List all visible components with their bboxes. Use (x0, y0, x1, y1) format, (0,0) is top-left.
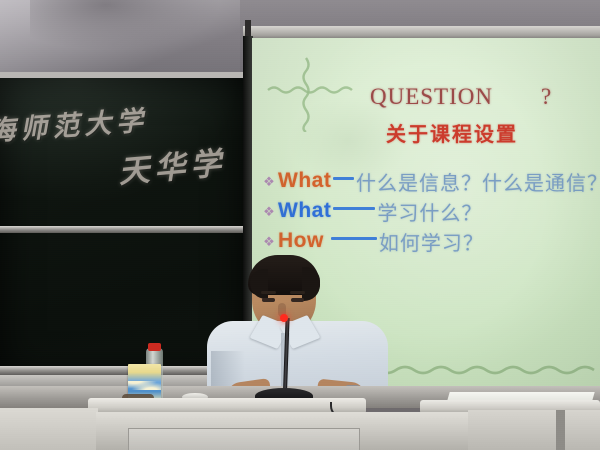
bullet-text: 学习什么？ (377, 197, 482, 226)
slide-subtitle: 关于课程设置 (386, 118, 518, 147)
list-item: ❖ What 什么是信息？什么是通信？ (260, 166, 600, 196)
chalk-text-line-2: 天华学 (116, 137, 228, 191)
podium-inset-panel (128, 428, 360, 450)
dash-connector (333, 177, 354, 180)
bullet-keyword: What (278, 199, 331, 223)
slide-title-row: QUESTION? (370, 84, 600, 110)
desk-body-right (468, 410, 600, 450)
carton-label-graphic (128, 381, 161, 390)
eyebrow-right (290, 291, 305, 294)
bottle-cap (148, 343, 161, 351)
hair (248, 255, 320, 295)
dash-connector (333, 207, 375, 210)
list-item: ❖ What 学习什么？ (260, 196, 600, 226)
desk-seam (556, 410, 565, 450)
eye-left (262, 298, 275, 302)
lecture-hall-photo: 海师范大学 天华学 QUESTION? 关于课程设置 ❖ What 什么是信息？… (0, 0, 600, 450)
slide-bullet-list: ❖ What 什么是信息？什么是通信？ ❖ What 学习什么？ ❖ How 如… (260, 166, 600, 256)
slide-title: QUESTION (370, 84, 493, 109)
ceiling-shadow (30, 0, 220, 50)
wavy-cross-decoration (266, 56, 358, 132)
diamond-bullet-icon: ❖ (260, 175, 278, 188)
dash-connector (331, 237, 377, 240)
list-item: ❖ How 如何学习？ (260, 226, 600, 256)
diamond-bullet-icon: ❖ (260, 235, 278, 248)
bullet-keyword: How (278, 229, 324, 253)
eye-right (291, 298, 304, 302)
microphone-indicator-light (280, 314, 288, 322)
bullet-text: 什么是信息？什么是通信？ (356, 167, 600, 196)
diamond-bullet-icon: ❖ (260, 205, 278, 218)
bullet-keyword: What (278, 169, 331, 193)
desk-body-left (0, 408, 98, 450)
eyebrow-left (261, 291, 276, 294)
bullet-text: 如何学习？ (379, 227, 484, 256)
presenter (205, 255, 390, 405)
blackboard-rail-middle (0, 226, 250, 233)
slide-title-question-mark: ? (541, 84, 552, 109)
